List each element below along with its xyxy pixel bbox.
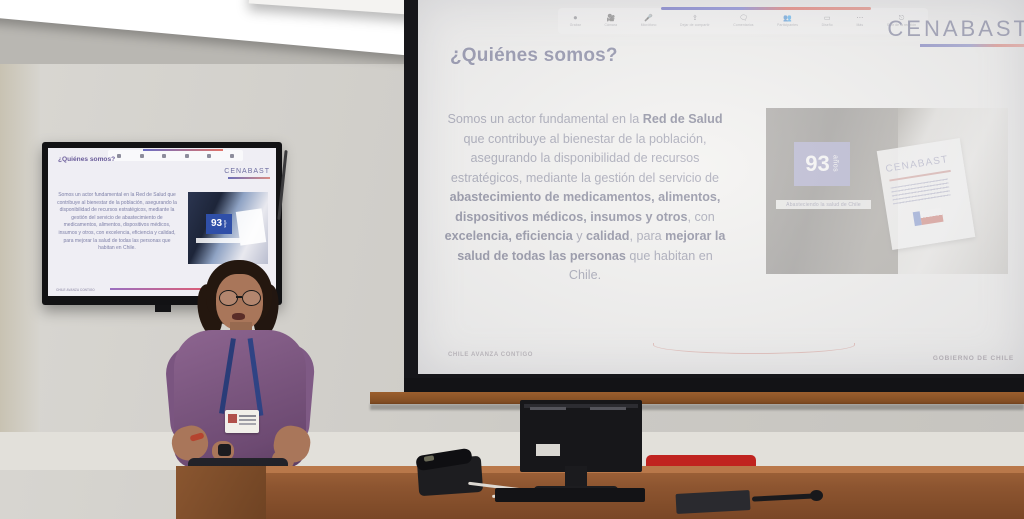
tv-toolbar-icon-2 xyxy=(140,154,144,158)
chile-flag-icon xyxy=(913,208,944,226)
id-badge-text-lines xyxy=(239,415,256,417)
slide-body-seg-0: Somos un actor fundamental en la xyxy=(447,112,642,126)
glasses-left-lens-icon xyxy=(219,290,238,306)
room-wall-left-panel xyxy=(0,0,40,470)
conference-desk-left-face xyxy=(176,466,266,519)
toolbar-item-participants[interactable]: 👥 Participantes xyxy=(777,15,798,27)
slide-body-seg-7: calidad xyxy=(586,229,629,243)
anniversary-word: años xyxy=(832,155,839,172)
minimize-icon: ⋯ xyxy=(856,15,863,22)
slide-body-seg-4: , con xyxy=(688,210,719,224)
tv-toolbar-icon-5 xyxy=(207,154,211,158)
keyboard xyxy=(495,488,645,502)
toolbar-label-microphone: Micrófono xyxy=(641,23,657,27)
toolbar-label-participants: Participantes xyxy=(777,23,798,27)
tv-anniversary-badge: 93 años xyxy=(206,214,232,234)
tv-slide-footer-left: CHILE AVANZA CONTIGO xyxy=(56,288,95,292)
tv-cenabast-logo: CENABAST xyxy=(224,168,270,175)
camera-icon: 🎥 xyxy=(606,15,615,22)
toolbar-item-layout[interactable]: ▭ Diseño xyxy=(822,15,833,27)
microphone-icon: 🎤 xyxy=(644,15,653,22)
tv-toolbar-icon-3 xyxy=(162,154,166,158)
monitor-label-right xyxy=(590,407,626,410)
toolbar-item-record[interactable]: ⏺ Grabar xyxy=(570,15,581,27)
meeting-toolbar[interactable]: ⏺ Grabar 🎥 Cámara 🎤 Micrófono ⇪ Dejar de… xyxy=(558,8,928,34)
anniversary-number: 93 xyxy=(805,153,829,175)
whiteboard-rail xyxy=(370,392,1024,404)
toolbar-item-more[interactable]: ⋯ Más xyxy=(856,15,863,27)
projected-slide: ⏺ Grabar 🎥 Cámara 🎤 Micrófono ⇪ Dejar de… xyxy=(418,0,1024,374)
toolbar-label-more: Más xyxy=(856,23,863,27)
tv-slide-body: Somos un actor fundamental en la Red de … xyxy=(56,192,178,253)
slide-photo: 93 años Abasteciendo la salud de Chile C… xyxy=(766,108,1008,274)
tv-meeting-toolbar xyxy=(108,150,243,161)
toolbar-label-chat: Comentarios xyxy=(733,23,753,27)
tv-toolbar-icon-1 xyxy=(117,154,121,158)
monitor-stand-neck xyxy=(565,466,587,488)
chat-icon: 🗨 xyxy=(739,15,748,22)
toolbar-item-microphone[interactable]: 🎤 Micrófono xyxy=(641,15,657,27)
cenabast-wall-sign: CENABAST xyxy=(877,138,976,250)
glasses-bridge-icon xyxy=(236,296,242,298)
cenabast-logo-underline xyxy=(920,44,1024,47)
toolbar-item-chat[interactable]: 🗨 Comentarios xyxy=(733,15,753,27)
toolbar-label-share-screen: Dejar de compartir xyxy=(680,23,710,27)
toolbar-label-record: Grabar xyxy=(570,23,581,27)
toolbar-item-camera[interactable]: 🎥 Cámara xyxy=(604,15,617,27)
glasses-right-lens-icon xyxy=(242,290,261,306)
slide-body-seg-3: abastecimiento de medicamentos, alimento… xyxy=(450,190,724,224)
tv-anniversary-number: 93 xyxy=(211,219,222,229)
tv-slide-photo: 93 años xyxy=(188,192,268,264)
computer-monitor xyxy=(520,400,642,472)
conference-room-photo: ⏺ Grabar 🎥 Cámara 🎤 Micrófono ⇪ Dejar de… xyxy=(0,0,1024,519)
microphone-head xyxy=(810,490,823,501)
anniversary-badge: 93 años xyxy=(794,142,850,186)
slide-body-seg-6: y xyxy=(573,229,586,243)
monitor-label-left xyxy=(530,407,566,410)
tv-toolbar-icon-6 xyxy=(230,154,234,158)
slide-photo-doorway xyxy=(766,108,898,274)
tv-anniversary-word: años xyxy=(223,220,227,228)
slide-title: ¿Quiénes somos? xyxy=(450,45,618,67)
record-icon: ⏺ xyxy=(574,15,578,22)
tv-toolbar-icon-4 xyxy=(185,154,189,158)
tablet xyxy=(676,490,751,514)
cenabast-sign-lines xyxy=(891,178,951,205)
tv-photo-caption-strip xyxy=(196,238,240,243)
wall-wainscot xyxy=(0,432,1024,470)
toolbar-label-camera: Cámara xyxy=(604,23,617,27)
slide-footer-swoosh xyxy=(653,343,855,354)
layout-icon: ▭ xyxy=(824,15,831,22)
cenabast-logo: CENABAST xyxy=(887,16,1024,42)
slide-body-seg-1: Red de Salud xyxy=(643,112,723,126)
slide-body-seg-8: , para xyxy=(629,229,665,243)
slide-body-text: Somos un actor fundamental en la Red de … xyxy=(440,110,730,286)
id-badge-logo xyxy=(228,414,237,423)
toolbar-item-share-screen[interactable]: ⇪ Dejar de compartir xyxy=(680,15,710,27)
tv-cenabast-logo-underline xyxy=(228,177,270,179)
slide-footer-left: CHILE AVANZA CONTIGO xyxy=(448,352,533,358)
slide-accent-bar xyxy=(661,7,871,10)
photo-caption-strip: Abasteciendo la salud de Chile xyxy=(776,200,871,209)
toolbar-label-layout: Diseño xyxy=(822,23,833,27)
whiteboard-rail-shadow xyxy=(370,404,1024,410)
presenter-mouth xyxy=(232,313,245,320)
id-badge xyxy=(225,410,259,433)
tv-accent-bar xyxy=(143,149,223,151)
tv-slide-title: ¿Quiénes somos? xyxy=(58,156,115,163)
slide-footer-right: GOBIERNO DE CHILE xyxy=(933,355,1014,362)
participants-icon: 👥 xyxy=(783,15,792,22)
slide-body-seg-5: excelencia, eficiencia xyxy=(445,229,573,243)
monitor-sticker xyxy=(536,444,560,456)
tv-cenabast-wall-sign xyxy=(236,208,266,245)
share-screen-icon: ⇪ xyxy=(692,15,698,22)
presentation-clicker xyxy=(218,444,231,456)
